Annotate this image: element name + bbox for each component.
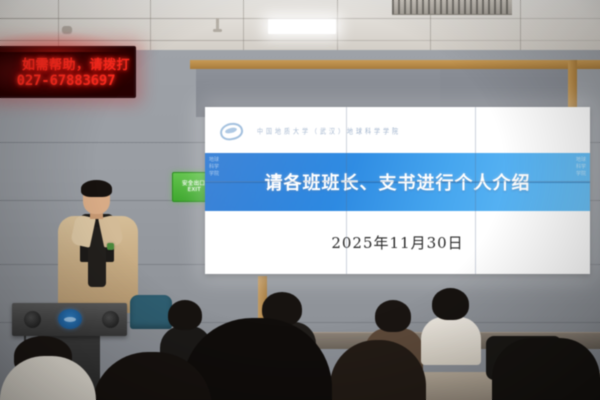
slide-organization-name: 中国地质大学（武汉）地球科学学院 xyxy=(257,125,401,135)
slide-footer: 2025年11月30日 xyxy=(205,211,590,274)
audience-head xyxy=(168,300,202,330)
exit-sign-line-2: EXIT xyxy=(187,187,200,193)
foreground-silhouette xyxy=(492,338,600,400)
sprinkler-icon xyxy=(216,18,219,31)
ceiling-tile-seam xyxy=(337,0,338,52)
slide-title-band: 请各班班长、支书进行个人介绍 xyxy=(205,153,590,211)
presenter-speaker xyxy=(55,183,147,313)
lecture-hall-photo: 如需帮助，请拨打 027-67883697 安全出口 EXIT 中国地质大学（武… xyxy=(0,0,600,400)
ceiling-tile-seam xyxy=(243,0,244,52)
video-wall-seam xyxy=(346,107,347,274)
wood-trim-molding xyxy=(190,60,600,69)
led-sign-line-2: 027-67883697 xyxy=(0,73,134,89)
slide-title: 请各班班长、支书进行个人介绍 xyxy=(265,169,531,195)
university-emblem-icon xyxy=(219,122,241,138)
ceiling-tile-seam xyxy=(0,40,600,41)
audience-body xyxy=(421,317,481,365)
slide-watermark-right: 地球科学学院 xyxy=(576,157,586,177)
slide-header: 中国地质大学（武汉）地球科学学院 xyxy=(205,107,590,153)
vent-slats-icon xyxy=(392,0,512,14)
video-wall-seam xyxy=(475,107,476,274)
ceiling-tile-seam xyxy=(150,0,151,52)
lectern-emblem-icon xyxy=(58,309,82,329)
ceiling-light-panel xyxy=(268,19,336,34)
audience-head xyxy=(375,300,411,332)
presenter-hair xyxy=(81,180,112,197)
ceiling-tile-seam xyxy=(520,0,521,52)
ceiling-tile-seam xyxy=(58,0,59,52)
projection-screen: 中国地质大学（武汉）地球科学学院 请各班班长、支书进行个人介绍 2025年11月… xyxy=(205,107,590,274)
help-hotline-led-sign: 如需帮助，请拨打 027-67883697 xyxy=(0,46,136,98)
slide-watermark-left: 地球科学学院 xyxy=(209,157,219,177)
speaker-grille-icon xyxy=(102,311,119,328)
video-wall-seam xyxy=(205,181,590,182)
office-chair xyxy=(130,295,172,329)
lectern-top xyxy=(12,303,127,336)
smoke-detector-icon xyxy=(62,26,72,33)
presenter-badge-icon xyxy=(107,243,114,250)
audience-head xyxy=(432,288,469,320)
speaker-grille-icon xyxy=(24,311,41,328)
slide-date: 2025年11月30日 xyxy=(331,232,463,253)
led-sign-line-1: 如需帮助，请拨打 xyxy=(0,54,136,73)
